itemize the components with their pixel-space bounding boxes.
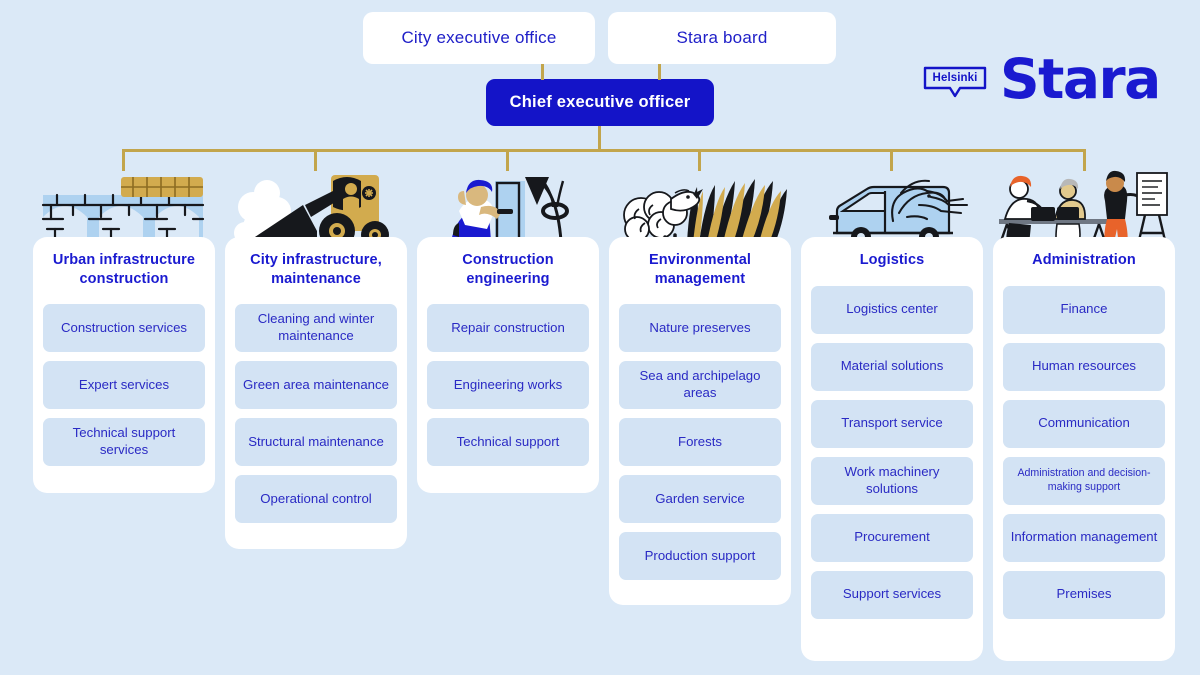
connector-drop-col-2 [314,149,317,171]
sub-unit-chip[interactable]: Information management [1003,514,1165,562]
sub-unit-chip[interactable]: Expert services [43,361,205,409]
node-chief-executive-officer[interactable]: Chief executive officer [486,79,714,126]
sub-unit-chip[interactable]: Procurement [811,514,973,562]
sub-unit-chip[interactable]: Cleaning and winter maintenance [235,304,397,352]
card-title: City infrastructure, maintenance [235,251,397,288]
card-title: Urban infrastructure construction [43,251,205,288]
connector-drop-col-4 [698,149,701,171]
org-chart-canvas: City executive office Stara board Chief … [0,0,1200,675]
sub-unit-chip[interactable]: Engineering works [427,361,589,409]
connector-stara-board-to-ceo [658,64,661,80]
sub-unit-chip[interactable]: Finance [1003,286,1165,334]
sub-unit-chip[interactable]: Premises [1003,571,1165,619]
connector-city-exec-to-ceo [541,64,544,80]
card-title: Logistics [811,251,973,270]
stara-logo: Helsinki Stara [922,52,1160,107]
card-urban-infrastructure-construction[interactable]: Urban infrastructure construction Constr… [33,237,215,493]
connector-drop-col-6 [1083,149,1086,171]
sub-unit-chip[interactable]: Construction services [43,304,205,352]
sub-unit-chip[interactable]: Sea and archipelago areas [619,361,781,409]
connector-horizontal-bus [122,149,1086,152]
connector-drop-col-3 [506,149,509,171]
sub-unit-chip[interactable]: Logistics center [811,286,973,334]
sub-unit-chip[interactable]: Technical support [427,418,589,466]
card-title: Construction engineering [427,251,589,288]
card-administration[interactable]: Administration Finance Human resources C… [993,237,1175,661]
node-city-executive-office[interactable]: City executive office [363,12,595,64]
sub-unit-chip[interactable]: Forests [619,418,781,466]
connector-drop-col-5 [890,149,893,171]
node-chief-executive-officer-label: Chief executive officer [510,93,691,112]
sub-unit-chip[interactable]: Material solutions [811,343,973,391]
helsinki-badge-label: Helsinki [922,65,988,91]
card-logistics[interactable]: Logistics Logistics center Material solu… [801,237,983,661]
sub-unit-chip[interactable]: Operational control [235,475,397,523]
node-stara-board[interactable]: Stara board [608,12,836,64]
sub-unit-chip[interactable]: Production support [619,532,781,580]
connector-drop-col-1 [122,149,125,171]
connector-ceo-stem [598,126,601,151]
node-city-executive-office-label: City executive office [401,28,556,48]
card-title: Administration [1003,251,1165,270]
card-city-infrastructure-maintenance[interactable]: City infrastructure, maintenance Cleanin… [225,237,407,549]
node-stara-board-label: Stara board [676,28,767,48]
sub-unit-chip[interactable]: Transport service [811,400,973,448]
card-construction-engineering[interactable]: Construction engineering Repair construc… [417,237,599,493]
card-environmental-management[interactable]: Environmental management Nature preserve… [609,237,791,605]
sub-unit-chip[interactable]: Repair construction [427,304,589,352]
sub-unit-chip[interactable]: Human resources [1003,343,1165,391]
sub-unit-chip[interactable]: Structural maintenance [235,418,397,466]
stara-wordmark: Stara [1000,52,1160,107]
card-title: Environmental management [619,251,781,288]
sub-unit-chip[interactable]: Communication [1003,400,1165,448]
sub-unit-chip[interactable]: Green area maintenance [235,361,397,409]
sub-unit-chip[interactable]: Technical support services [43,418,205,466]
sub-unit-chip[interactable]: Garden service [619,475,781,523]
sub-unit-chip[interactable]: Work machinery solutions [811,457,973,505]
sub-unit-chip[interactable]: Administration and decision-making suppo… [1003,457,1165,505]
sub-unit-chip[interactable]: Support services [811,571,973,619]
helsinki-badge-icon: Helsinki [922,65,988,95]
sub-unit-chip[interactable]: Nature preserves [619,304,781,352]
